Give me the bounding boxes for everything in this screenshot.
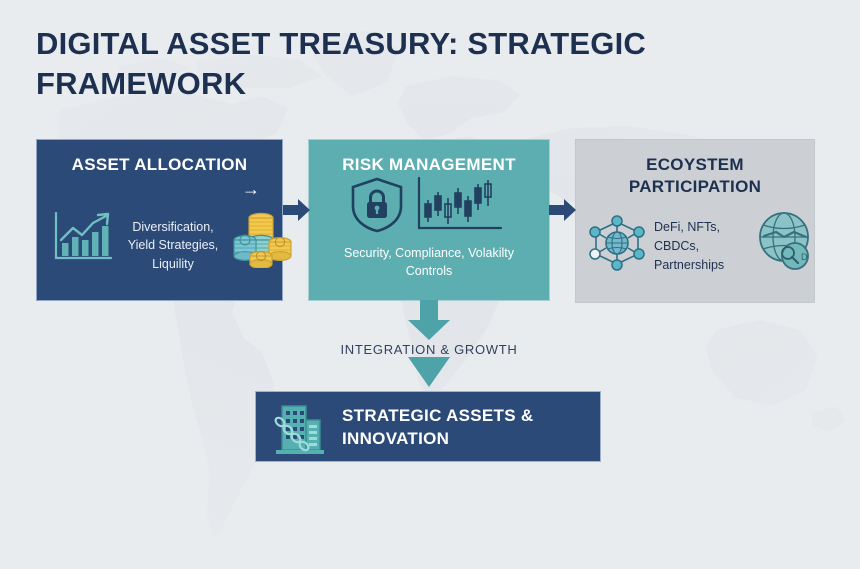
card-body-asset-allocation: Diversification, Yield Strategies, Liqui…: [121, 218, 225, 273]
network-globe-icon: [586, 212, 648, 274]
outcome-title: STRATEGIC ASSETS & INNOVATION: [342, 405, 590, 451]
down-arrow-bottom-icon: [404, 357, 454, 395]
connector-arrow-right-2: [549, 196, 576, 224]
building-chain-icon: [270, 400, 328, 456]
card-asset-allocation[interactable]: ASSET ALLOCATION → Diversification, Yiel…: [36, 139, 283, 301]
card-title-ecosystem-participation: ECOYSTEM PARTICIPATION: [576, 154, 814, 198]
candlestick-chart-icon: [415, 176, 503, 234]
card-risk-management[interactable]: RISK MANAGEMENT: [308, 139, 550, 301]
page-title: DIGITAL ASSET TREASURY: STRATEGIC FRAMEW…: [36, 24, 696, 103]
svg-text:D: D: [801, 252, 808, 262]
globe-money-icon: D: [754, 210, 816, 272]
down-arrow-top-icon: [404, 300, 454, 340]
inline-arrow-right-icon: →: [242, 180, 260, 198]
growth-bar-chart-icon: [51, 210, 115, 264]
card-title-asset-allocation: ASSET ALLOCATION: [37, 154, 282, 176]
connector-arrow-right-1: [283, 196, 310, 224]
shield-lock-icon: [349, 176, 405, 234]
card-ecosystem-participation[interactable]: ECOYSTEM PARTICIPATION: [575, 139, 815, 303]
integration-growth-label: INTEGRATION & GROWTH: [300, 342, 558, 357]
card-body-ecosystem-participation: DeFi, NFTs, CBDCs, Partnerships: [654, 218, 766, 274]
outcome-strategic-assets-bar[interactable]: STRATEGIC ASSETS & INNOVATION: [255, 391, 601, 462]
card-body-risk-management: Security, Compliance, Volakilty Controls: [335, 244, 523, 281]
card-title-risk-management: RISK MANAGEMENT: [309, 154, 549, 176]
